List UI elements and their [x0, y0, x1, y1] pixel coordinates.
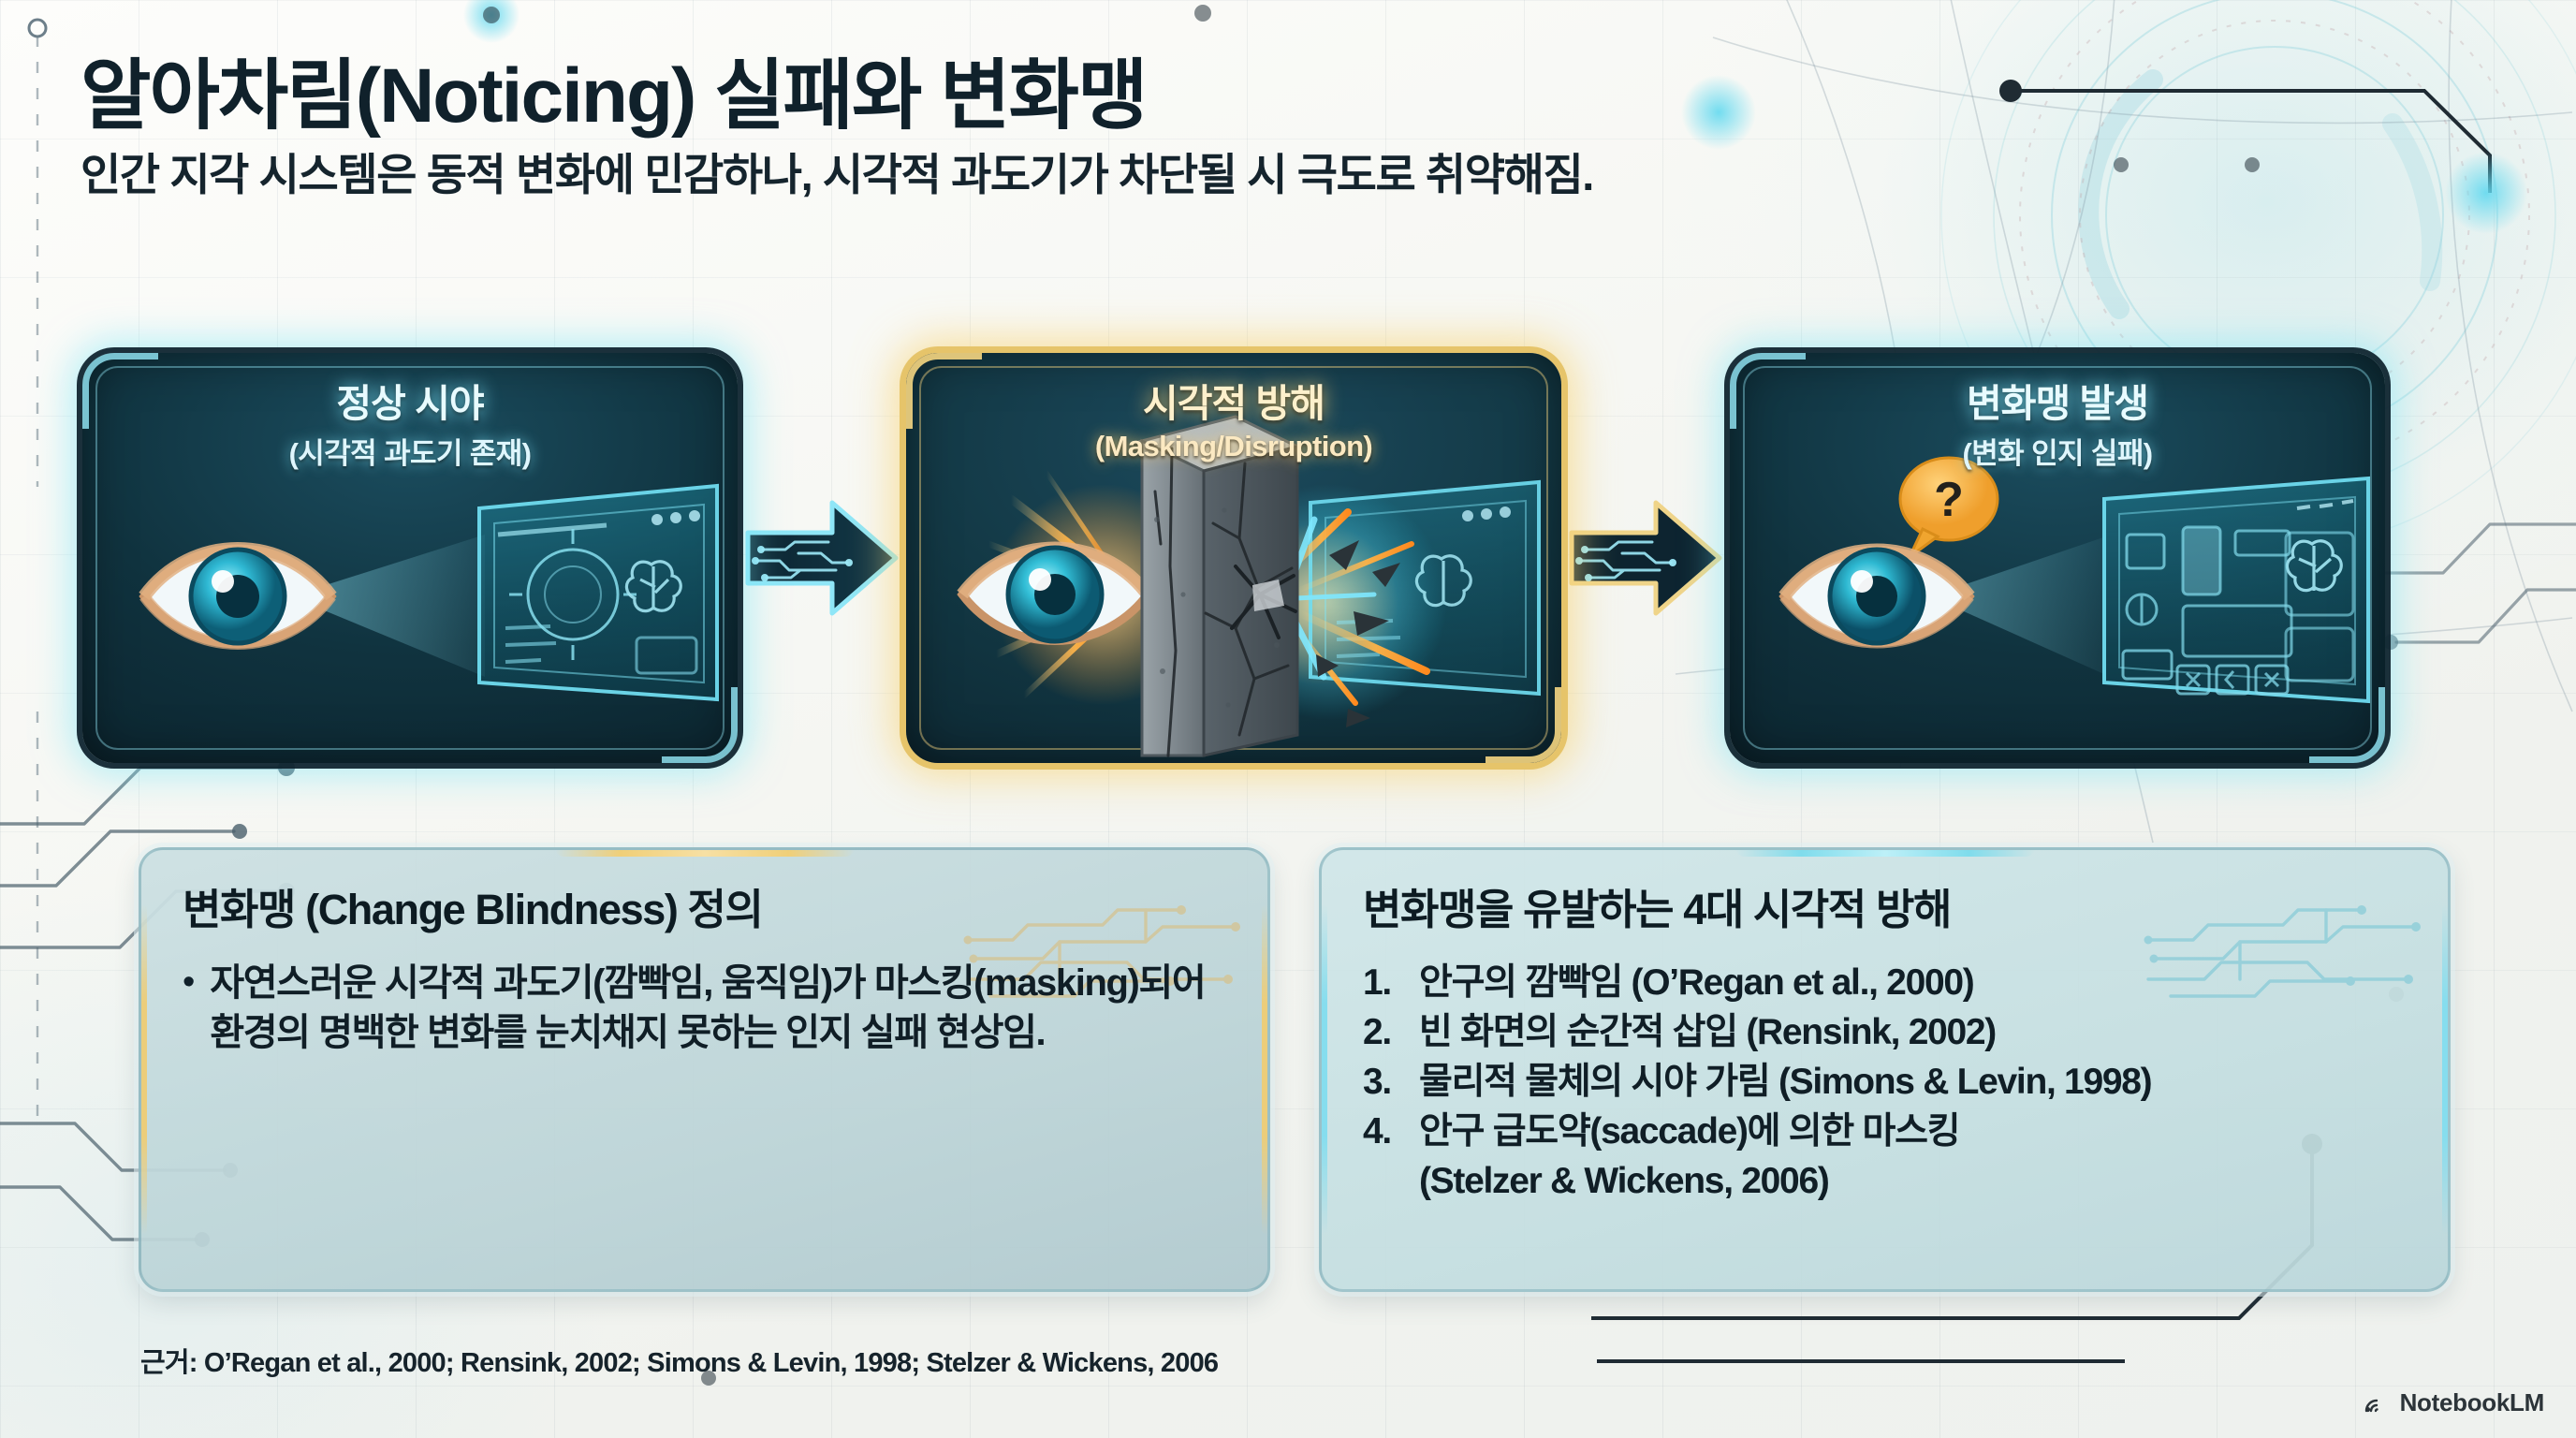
stage-subtitle: (변화 인지 실패) — [1730, 430, 2385, 472]
question-bubble-icon: ? — [1900, 458, 1998, 557]
panel-body: 1. 안구의 깜빡임 (O’Regan et al., 2000) 2. 빈 화… — [1363, 959, 2407, 1205]
list-item: 2. 빈 화면의 순간적 삽입 (Rensink, 2002) — [1363, 1008, 2407, 1056]
bullet-item: • 자연스러운 시각적 과도기(깜빡임, 움직임)가 마스킹(masking)되… — [183, 959, 1226, 1059]
svg-text:?: ? — [1934, 473, 1964, 527]
panel-change-blindness-definition: 변화맹 (Change Blindness) 정의 • 자연스러운 시각적 과도… — [139, 847, 1270, 1292]
bullet-text: 자연스러운 시각적 과도기(깜빡임, 움직임)가 마스킹(masking)되어 … — [210, 959, 1226, 1059]
list-item-index: 3. — [1363, 1058, 1406, 1106]
panel-four-visual-disruptions: 변화맹을 유발하는 4대 시각적 방해 1. 안구의 깜빡임 (O’Regan … — [1319, 847, 2451, 1292]
stage-header: 시각적 방해 (Masking/Disruption) — [906, 353, 1561, 463]
panel-top-accent — [1735, 847, 2035, 857]
list-item: 4. 안구 급도약(saccade)에 의한 마스킹 — [1363, 1108, 2407, 1155]
illustration-eye-with-question-bubble-and-hud: ? — [1730, 454, 2385, 756]
bullet-marker-icon: • — [183, 959, 195, 1059]
notebooklm-logo-icon — [2361, 1389, 2389, 1417]
list-item-continuation-text: (Stelzer & Wickens, 2006) — [1419, 1157, 2407, 1205]
arrow-1 — [738, 488, 906, 628]
panel-right-accent — [1262, 904, 1270, 1235]
list-item-index: 4. — [1363, 1108, 1406, 1155]
stage-title: 시각적 방해 — [906, 372, 1561, 428]
info-panels: 변화맹 (Change Blindness) 정의 • 자연스러운 시각적 과도… — [139, 847, 2451, 1292]
page-title: 알아차림(Noticing) 실패와 변화맹 — [80, 52, 1953, 139]
notebooklm-watermark: NotebookLM — [2361, 1388, 2544, 1417]
stage-header: 정상 시야 (시각적 과도기 존재) — [82, 353, 738, 472]
stage-title: 변화맹 발생 — [1730, 372, 2385, 428]
page-subtitle: 인간 지각 시스템은 동적 변화에 민감하나, 시각적 과도기가 차단될 시 극… — [80, 149, 1953, 201]
stage-title: 정상 시야 — [82, 372, 738, 428]
hud-panel — [479, 486, 717, 699]
arrow-2 — [1561, 488, 1730, 628]
list-item-text: 안구의 깜빡임 (O’Regan et al., 2000) — [1419, 959, 2407, 1006]
arrow-right-icon — [1566, 488, 1725, 628]
stage-visual-disruption: 시각적 방해 (Masking/Disruption) — [906, 353, 1561, 763]
header: 알아차림(Noticing) 실패와 변화맹 인간 지각 시스템은 동적 변화에… — [80, 52, 1953, 202]
list-item: 1. 안구의 깜빡임 (O’Regan et al., 2000) — [1363, 959, 2407, 1006]
illustration-eye-blocked-by-cracked-stone-pillar — [906, 454, 1561, 756]
stone-pillar-icon — [1142, 417, 1297, 756]
slide-canvas: 알아차림(Noticing) 실패와 변화맹 인간 지각 시스템은 동적 변화에… — [0, 0, 2576, 1438]
stage-subtitle: (시각적 과도기 존재) — [82, 430, 738, 472]
hud-panel — [2104, 478, 2368, 701]
arrow-right-icon — [742, 488, 901, 628]
list-item-index: 1. — [1363, 959, 1406, 1006]
list-item-text: 물리적 물체의 시야 가림 (Simons & Levin, 1998) — [1419, 1058, 2407, 1106]
illustration-eye-and-hud-display — [82, 454, 738, 756]
panel-body: • 자연스러운 시각적 과도기(깜빡임, 움직임)가 마스킹(masking)되… — [183, 959, 1226, 1059]
list-item-index: 2. — [1363, 1008, 1406, 1056]
eye-icon — [144, 549, 331, 644]
source-note: 근거: O’Regan et al., 2000; Rensink, 2002;… — [140, 1341, 1218, 1380]
panel-right-accent — [2442, 904, 2451, 1235]
stage-header: 변화맹 발생 (변화 인지 실패) — [1730, 353, 2385, 472]
list-item-continuation: (Stelzer & Wickens, 2006) — [1419, 1157, 2407, 1205]
watermark-label: NotebookLM — [2400, 1388, 2544, 1417]
stage-subtitle: (Masking/Disruption) — [906, 430, 1561, 463]
process-flow: 정상 시야 (시각적 과도기 존재) — [0, 343, 2576, 773]
list-item-text: 빈 화면의 순간적 삽입 (Rensink, 2002) — [1419, 1008, 2407, 1056]
panel-heading: 변화맹을 유발하는 4대 시각적 방해 — [1363, 886, 2407, 934]
decor-node-dot — [1999, 80, 2022, 102]
disruption-list: 1. 안구의 깜빡임 (O’Regan et al., 2000) 2. 빈 화… — [1363, 959, 2407, 1205]
panel-top-accent — [555, 847, 855, 857]
stage-normal-vision: 정상 시야 (시각적 과도기 존재) — [82, 353, 738, 763]
panel-left-accent — [1319, 904, 1327, 1235]
list-item: 3. 물리적 물체의 시야 가림 (Simons & Levin, 1998) — [1363, 1058, 2407, 1106]
list-item-text: 안구 급도약(saccade)에 의한 마스킹 — [1419, 1108, 2407, 1155]
eye-icon — [1784, 550, 1969, 643]
panel-heading: 변화맹 (Change Blindness) 정의 — [183, 886, 1226, 934]
stage-change-blindness-occurs: 변화맹 발생 (변화 인지 실패) — [1730, 353, 2385, 763]
panel-left-accent — [139, 904, 147, 1235]
